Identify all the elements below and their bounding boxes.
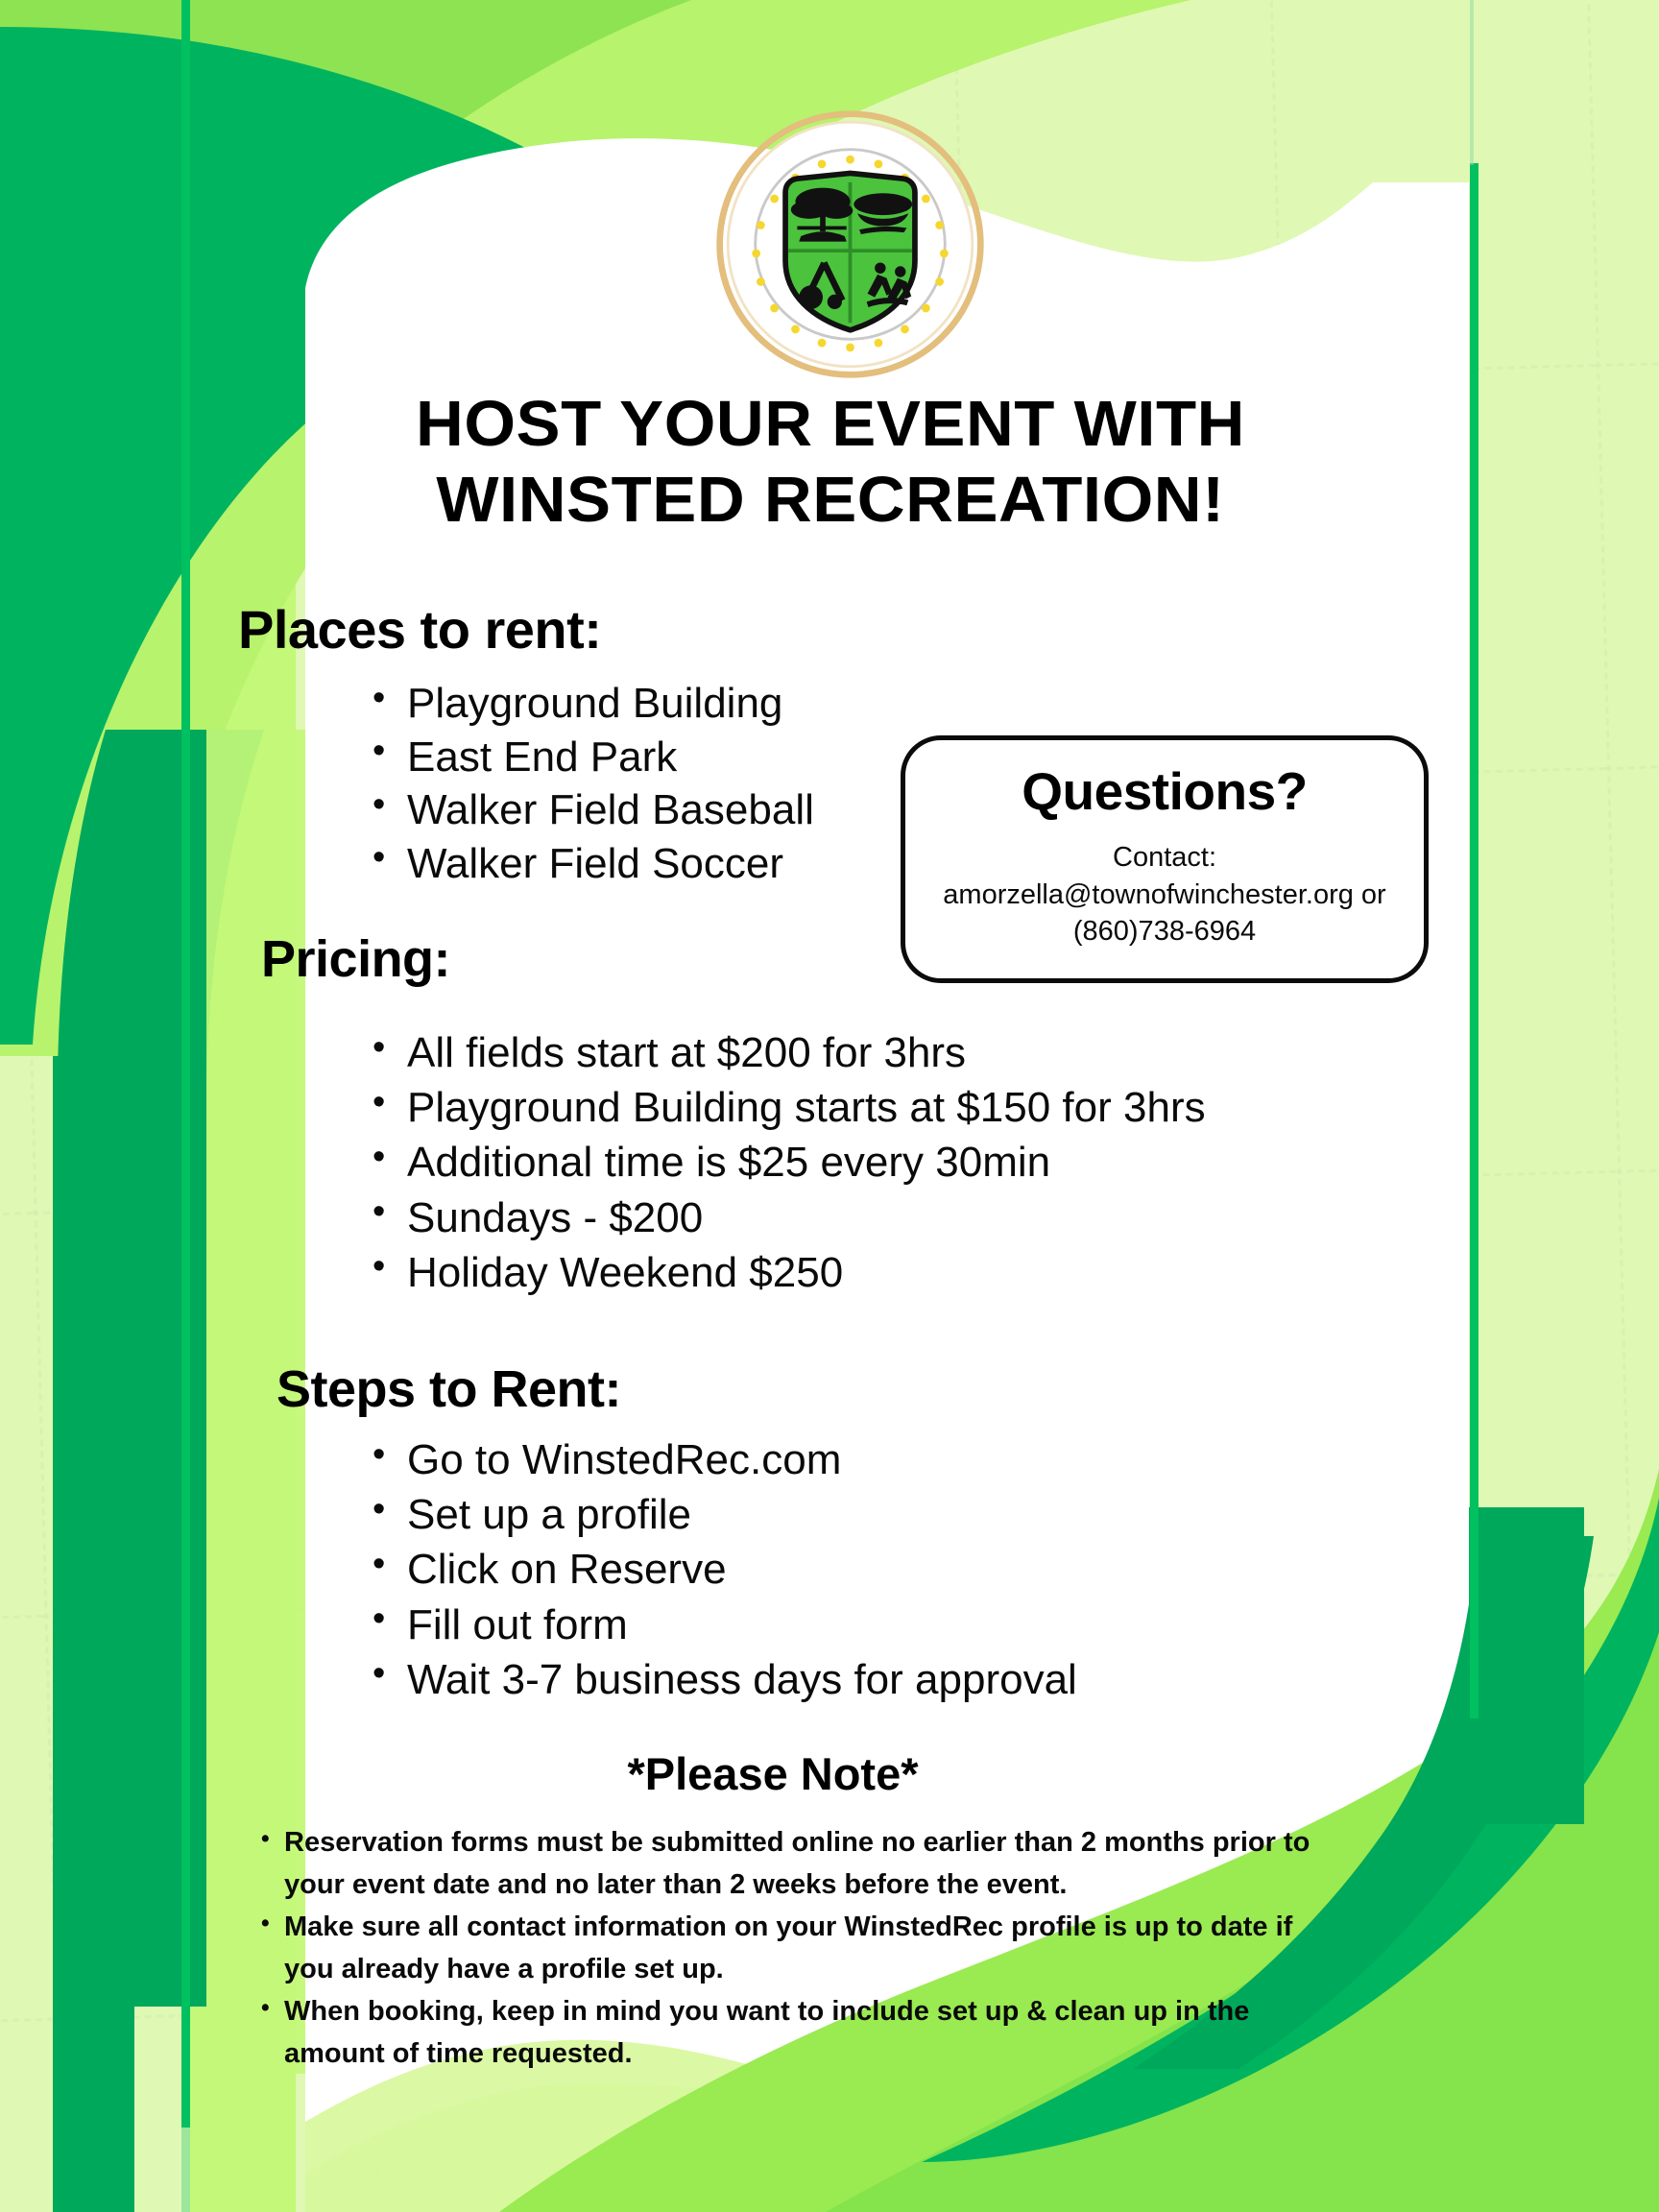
list-item: Go to WinstedRec.com (365, 1432, 1077, 1487)
contact-label: Contact: (915, 839, 1414, 877)
list-item: East End Park (365, 731, 814, 784)
flyer-poster: HOST YOUR EVENT WITH WINSTED RECREATION!… (0, 0, 1659, 2212)
list-item: Walker Field Baseball (365, 783, 814, 837)
notes-list: Reservation forms must be submitted onli… (259, 1822, 1315, 2076)
list-item: When booking, keep in mind you want to i… (259, 1991, 1315, 2075)
list-item: Playground Building starts at $150 for 3… (365, 1080, 1206, 1135)
list-item: Sundays - $200 (365, 1190, 1206, 1245)
list-item: Make sure all contact information on you… (259, 1907, 1315, 1990)
page-title: HOST YOUR EVENT WITH WINSTED RECREATION! (212, 386, 1449, 538)
contact-email[interactable]: amorzella@townofwinchester.org or (915, 877, 1414, 914)
questions-box-contact: Contact: amorzella@townofwinchester.org … (905, 839, 1424, 950)
list-item: Reservation forms must be submitted onli… (259, 1822, 1315, 1906)
list-item: Click on Reserve (365, 1542, 1077, 1597)
section-heading-note: *Please Note* (230, 1747, 1315, 1800)
questions-box: Questions? Contact: amorzella@townofwinc… (901, 735, 1429, 983)
list-item: Wait 3-7 business days for approval (365, 1652, 1077, 1707)
steps-list: Go to WinstedRec.com Set up a profile Cl… (365, 1432, 1077, 1707)
questions-box-title: Questions? (905, 765, 1424, 818)
section-heading-places: Places to rent: (238, 598, 601, 661)
list-item: Additional time is $25 every 30min (365, 1135, 1206, 1190)
title-line-1: HOST YOUR EVENT WITH (212, 386, 1449, 462)
section-heading-steps: Steps to Rent: (276, 1359, 621, 1419)
places-list: Playground Building East End Park Walker… (365, 677, 814, 891)
list-item: Walker Field Soccer (365, 837, 814, 891)
title-line-2: WINSTED RECREATION! (212, 462, 1449, 538)
list-item: All fields start at $200 for 3hrs (365, 1025, 1206, 1080)
list-item: Holiday Weekend $250 (365, 1245, 1206, 1300)
contact-phone[interactable]: (860)738-6964 (915, 913, 1414, 950)
list-item: Set up a profile (365, 1487, 1077, 1542)
list-item: Playground Building (365, 677, 814, 731)
list-item: Fill out form (365, 1598, 1077, 1652)
town-seal-logo (713, 108, 987, 381)
pricing-list: All fields start at $200 for 3hrs Playgr… (365, 1025, 1206, 1300)
section-heading-pricing: Pricing: (261, 929, 450, 989)
